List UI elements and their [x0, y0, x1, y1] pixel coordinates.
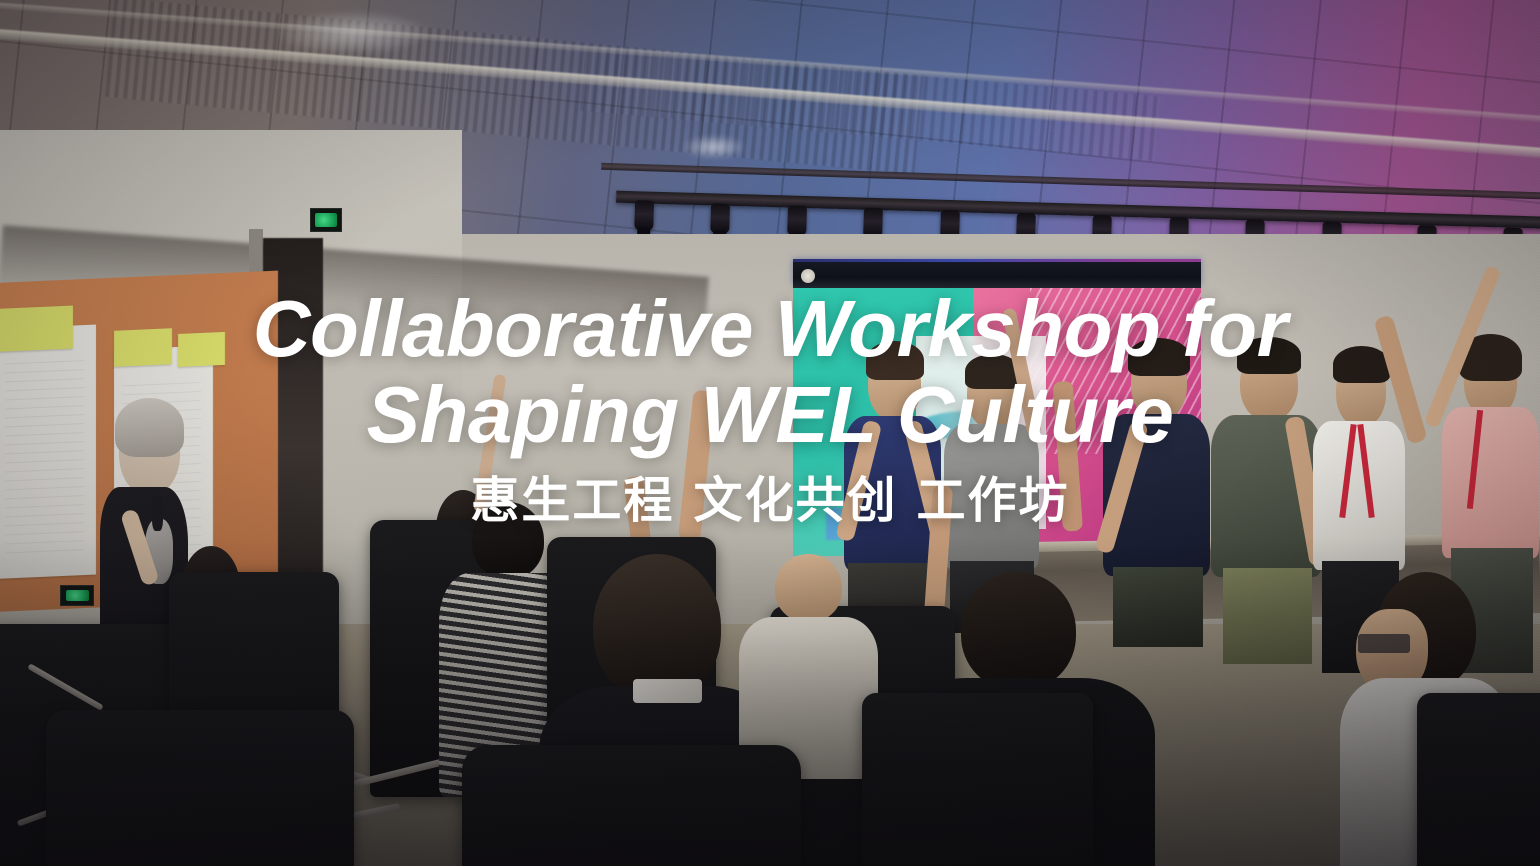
- title-line-1: Collaborative Workshop for: [253, 286, 1288, 372]
- stage-light-fixture: [634, 200, 654, 231]
- ceiling-dome-light: [277, 12, 427, 54]
- office-chair: [46, 710, 354, 866]
- microphone: [152, 495, 164, 530]
- stage-light-fixture: [711, 203, 731, 234]
- poster-paper: [0, 325, 96, 579]
- exit-sign-icon: [60, 585, 94, 607]
- ceiling-spot-light: [684, 136, 744, 158]
- eyeglasses: [1358, 634, 1410, 653]
- collar: [633, 679, 702, 703]
- title-line-2: Shaping WEL Culture: [253, 372, 1288, 458]
- sticky-note: [113, 328, 172, 367]
- office-chair: [462, 745, 801, 866]
- workshop-banner: Collaborative Workshop for Shaping WEL C…: [0, 0, 1540, 866]
- exit-sign-icon: [310, 208, 343, 233]
- title-block: Collaborative Workshop for Shaping WEL C…: [253, 286, 1288, 529]
- header-indicator-light: [801, 269, 815, 283]
- stage-light-fixture: [787, 205, 807, 236]
- office-chair: [1417, 693, 1540, 866]
- sticky-note: [178, 332, 225, 367]
- subtitle-chinese: 惠生工程 文化共创 工作坊: [253, 473, 1288, 529]
- office-chair: [862, 693, 1093, 866]
- sticky-note: [0, 306, 72, 352]
